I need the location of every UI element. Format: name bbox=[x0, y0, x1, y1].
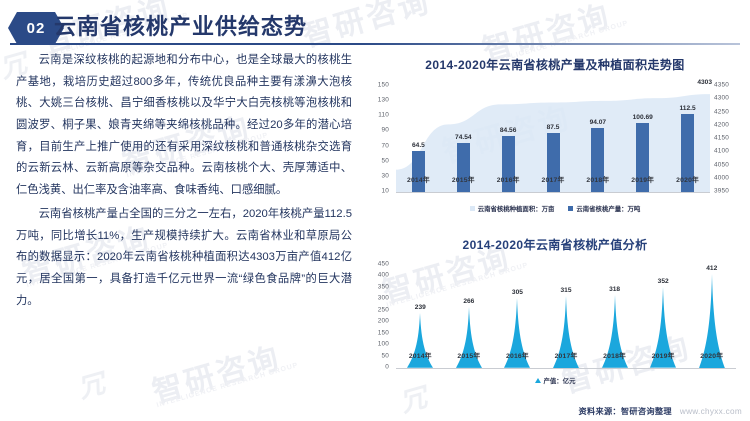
x-tick-label: 2020年 bbox=[687, 350, 736, 360]
body-text: 云南是深纹核桃的起源地和分布中心，也是全球最大的核桃生产基地，栽培历史超过800… bbox=[16, 50, 352, 314]
y-tick: 30 bbox=[381, 172, 389, 179]
y-tick: 110 bbox=[378, 112, 389, 119]
y-tick: 450 bbox=[378, 261, 389, 268]
section-number: 02 bbox=[27, 20, 46, 37]
y-tick: 50 bbox=[381, 157, 389, 164]
y-tick: 4300 bbox=[714, 95, 729, 102]
chart1-y-axis-right: 435043004250420041504100405040003950 bbox=[710, 77, 744, 193]
y-tick: 4350 bbox=[714, 82, 729, 89]
x-tick-label: 2017年 bbox=[542, 350, 591, 360]
x-tick-label: 2019年 bbox=[639, 350, 688, 360]
chart2-title: 2014-2020年云南省核桃产值分析 bbox=[366, 234, 744, 253]
cone-value-label: 412 bbox=[706, 265, 717, 272]
y-tick: 90 bbox=[381, 127, 389, 134]
footer: 资料来源：智研咨询整理 www.chyxx.com bbox=[578, 405, 742, 417]
cone-value-label: 266 bbox=[463, 298, 474, 305]
x-tick-label: 2020年 bbox=[665, 174, 710, 184]
y-tick: 4100 bbox=[714, 148, 729, 155]
x-tick-label: 2019年 bbox=[620, 174, 665, 184]
legend-label: 云南省核桃种植面积：万亩 bbox=[478, 204, 555, 213]
y-tick: 0 bbox=[385, 364, 389, 371]
chart1-title: 2014-2020年云南省核桃产量及种植面积走势图 bbox=[366, 54, 744, 73]
bar: 64.5 bbox=[412, 151, 425, 192]
y-tick: 50 bbox=[381, 352, 389, 359]
y-tick: 100 bbox=[378, 341, 389, 348]
y-tick: 4150 bbox=[714, 135, 729, 142]
chart1-legend: 云南省核桃种植面积：万亩云南省核桃产量：万吨 bbox=[366, 204, 744, 213]
legend-item[interactable]: 云南省核桃种植面积：万亩 bbox=[470, 204, 555, 213]
legend-swatch bbox=[568, 206, 573, 211]
y-tick: 200 bbox=[378, 318, 389, 325]
source-url: www.chyxx.com bbox=[680, 407, 742, 416]
slide-page: 智研咨询 INTELLIGENCE RESEARCH GROUP 智研咨询 冗 … bbox=[0, 0, 750, 421]
x-tick-label: 2015年 bbox=[441, 174, 486, 184]
paragraph-1: 云南是深纹核桃的起源地和分布中心，也是全球最大的核桃生产基地，栽培历史超过800… bbox=[16, 50, 352, 202]
cone-value-label: 305 bbox=[512, 289, 523, 296]
y-tick: 70 bbox=[381, 142, 389, 149]
chart2-baseline bbox=[396, 368, 736, 369]
x-tick-label: 2016年 bbox=[486, 174, 531, 184]
y-tick: 130 bbox=[378, 97, 389, 104]
chart2-y-axis: 450400350300250200150100500 bbox=[366, 259, 392, 369]
bar-value-label: 84.56 bbox=[500, 127, 517, 134]
cone-value-label: 352 bbox=[658, 278, 669, 285]
legend-item[interactable]: 云南省核桃产量：万吨 bbox=[568, 204, 640, 213]
y-tick: 10 bbox=[381, 188, 389, 195]
chart2-legend: 产值：亿元 bbox=[366, 376, 744, 385]
chart-production-and-area: 2014-2020年云南省核桃产量及种植面积走势图 15013011090705… bbox=[366, 54, 744, 226]
legend-label: 云南省核桃产量：万吨 bbox=[576, 204, 640, 213]
legend-swatch bbox=[535, 378, 541, 383]
x-tick-label: 2015年 bbox=[445, 350, 494, 360]
bar-value-label: 100.69 bbox=[633, 114, 653, 121]
bar-value-label: 74.54 bbox=[455, 134, 472, 141]
legend-swatch bbox=[470, 206, 475, 211]
page-title: 云南省核桃产业供给态势 bbox=[54, 9, 307, 41]
y-tick: 250 bbox=[378, 306, 389, 313]
chart1-y-axis-left: 1501301109070503010 bbox=[366, 77, 392, 193]
y-tick: 4050 bbox=[714, 161, 729, 168]
bar-value-label: 64.5 bbox=[412, 142, 425, 149]
y-tick: 150 bbox=[378, 82, 389, 89]
bar: 74.54 bbox=[457, 143, 470, 192]
x-tick-label: 2014年 bbox=[396, 174, 441, 184]
cone-value-label: 318 bbox=[609, 286, 620, 293]
paragraph-2: 云南省核桃产量占全国的三分之一左右，2020年核桃产量112.5万吨，同比增长1… bbox=[16, 204, 352, 312]
y-tick: 4250 bbox=[714, 108, 729, 115]
bar-value-label: 94.07 bbox=[590, 119, 607, 126]
x-tick-label: 2018年 bbox=[590, 350, 639, 360]
y-tick: 150 bbox=[378, 329, 389, 336]
x-tick-label: 2018年 bbox=[575, 174, 620, 184]
chart2-x-axis: 2014年2015年2016年2017年2018年2019年2020年 bbox=[396, 350, 736, 360]
source-text: 资料来源：智研咨询整理 bbox=[578, 405, 671, 417]
chart1-baseline bbox=[396, 192, 710, 193]
y-tick: 3950 bbox=[714, 188, 729, 195]
y-tick: 300 bbox=[378, 295, 389, 302]
chart-output-value: 2014-2020年云南省核桃产值分析 45040035030025020015… bbox=[366, 234, 744, 402]
legend-label: 产值：亿元 bbox=[544, 376, 576, 385]
x-tick-label: 2014年 bbox=[396, 350, 445, 360]
bar-value-label: 112.5 bbox=[680, 105, 696, 112]
y-tick: 4200 bbox=[714, 121, 729, 128]
cone-value-label: 315 bbox=[561, 287, 572, 294]
cone-value-label: 239 bbox=[415, 304, 426, 311]
bar-value-label: 87.5 bbox=[547, 124, 560, 131]
legend-item[interactable]: 产值：亿元 bbox=[535, 376, 576, 385]
x-tick-label: 2016年 bbox=[493, 350, 542, 360]
y-tick: 4000 bbox=[714, 174, 729, 181]
y-tick: 350 bbox=[378, 283, 389, 290]
slide-header: 02 云南省核桃产业供给态势 bbox=[0, 6, 750, 46]
y-tick: 400 bbox=[378, 272, 389, 279]
x-tick-label: 2017年 bbox=[531, 174, 576, 184]
chart1-x-axis: 2014年2015年2016年2017年2018年2019年2020年 bbox=[396, 174, 710, 184]
